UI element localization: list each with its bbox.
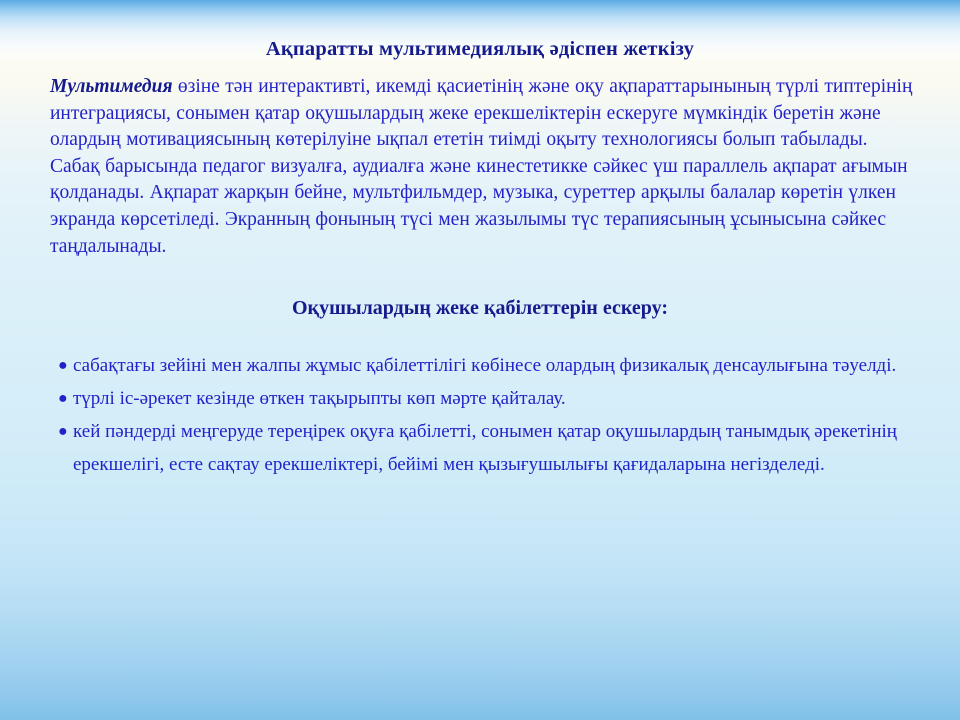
bullet-list: ● сабақтағы зейіні мен жалпы жұмыс қабіл…	[58, 349, 938, 481]
lead-term: Мультимедия	[50, 76, 173, 97]
paragraph-text: өзіне тән интерактивті, икемді қасиетіні…	[50, 76, 912, 257]
list-item-text: кей пәндерді меңгеруде тереңірек оқуға қ…	[73, 421, 897, 475]
subheading-colon: :	[661, 297, 668, 319]
section-subheading: Оқушылардың жеке қабілеттерін ескеру:	[0, 297, 960, 320]
list-item: ● түрлі іс-әрекет кезінде өткен тақырыпт…	[58, 382, 938, 415]
list-item: ● кей пәндерді меңгеруде тереңірек оқуға…	[58, 415, 938, 481]
subheading-text: Оқушылардың жеке қабілеттерін ескеру	[292, 297, 661, 319]
body-paragraph: Мультимедия өзіне тән интерактивті, икем…	[50, 74, 916, 260]
list-item: ● сабақтағы зейіні мен жалпы жұмыс қабіл…	[58, 349, 938, 382]
list-item-text: түрлі іс-әрекет кезінде өткен тақырыпты …	[73, 388, 566, 409]
list-item-text: сабақтағы зейіні мен жалпы жұмыс қабілет…	[73, 355, 896, 376]
bullet-dot-icon: ●	[58, 382, 68, 415]
bullet-dot-icon: ●	[58, 415, 68, 448]
slide-canvas: Ақпаратты мультимедиялық әдіспен жеткізу…	[0, 0, 960, 720]
bullet-dot-icon: ●	[58, 349, 68, 382]
page-title: Ақпаратты мультимедиялық әдіспен жеткізу	[0, 38, 960, 61]
